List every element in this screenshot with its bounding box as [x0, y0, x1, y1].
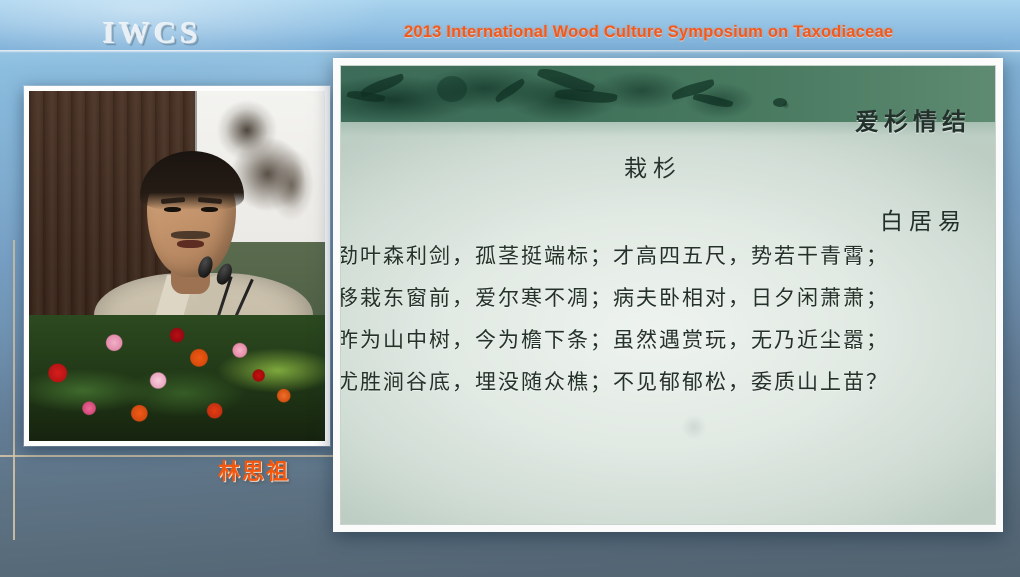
fern-leaf-icon: [554, 86, 617, 107]
slide-section-title: 爱杉情结: [855, 110, 971, 134]
speaker-eye-right: [201, 207, 219, 212]
slide-content: 爱杉情结 栽杉 白居易 劲叶森利剑，孤茎挺端标；才高四五尺，势若干青霄； 移栽东…: [340, 65, 996, 525]
vertical-guide-line: [13, 240, 15, 540]
slide-panel: 爱杉情结 栽杉 白居易 劲叶森利剑，孤茎挺端标；才高四五尺，势若干青霄； 移栽东…: [333, 58, 1003, 532]
speaker-eye-left: [164, 207, 182, 212]
symposium-title: 2013 International Wood Culture Symposiu…: [404, 24, 893, 41]
poem-author: 白居易: [880, 211, 967, 234]
speaker-mustache: [171, 231, 209, 239]
poem-line: 劲叶森利剑，孤茎挺端标；才高四五尺，势若干青霄；: [340, 246, 996, 267]
fern-leaf-icon: [537, 66, 596, 97]
fern-leaf-icon: [346, 88, 385, 105]
fern-leaf-icon: [493, 78, 527, 103]
poem-title: 栽杉: [624, 158, 682, 181]
fern-leaf-icon: [693, 91, 734, 111]
speaker-mouth: [177, 240, 204, 248]
poem-line: 昨为山中树，今为檐下条；虽然遇赏玩，无乃近尘嚣；: [340, 330, 996, 351]
poem-line: 尤胜涧谷底，埋没随众樵；不见郁郁松，委质山上苗？: [340, 372, 996, 393]
speaker-name-label: 林思祖: [218, 462, 290, 484]
poem-body: 劲叶森利剑，孤茎挺端标；才高四五尺，势若干青霄； 移栽东窗前，爱尔寒不凋；病夫卧…: [340, 246, 996, 414]
fern-leaf-icon: [670, 79, 715, 100]
fern-leaf-icon: [358, 73, 405, 98]
slide-watermark: [681, 414, 707, 440]
small-bud-icon: [773, 98, 787, 107]
poem-line: 移栽东窗前，爱尔寒不凋；病夫卧相对，日夕闲萧萧；: [340, 288, 996, 309]
top-banner: IWCS 2013 International Wood Culture Sym…: [0, 0, 1020, 52]
flower-arrangement: [29, 315, 325, 441]
flower-silhouette-icon: [437, 76, 467, 102]
presentation-screen: IWCS 2013 International Wood Culture Sym…: [0, 0, 1020, 577]
speaker-video-frame: [29, 91, 325, 441]
iwcs-logo: IWCS: [103, 17, 202, 48]
speaker-video-panel: [24, 86, 330, 446]
